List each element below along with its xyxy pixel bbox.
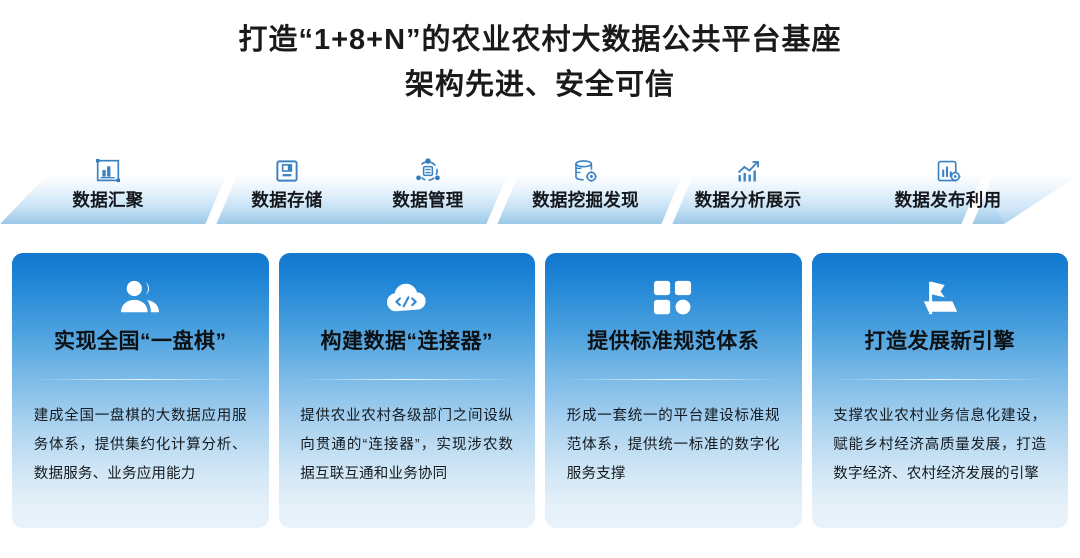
process-step-label: 数据发布利用	[895, 190, 1002, 224]
process-step-data-mining[interactable]: 数据挖掘发现	[498, 134, 673, 224]
network-node-circle-icon	[414, 154, 442, 188]
feature-card-standards-system[interactable]: 提供标准规范体系 形成一套统一的平台建设标准规范体系，提供统一标准的数字化服务支…	[545, 253, 802, 528]
bar-chart-frame-icon	[93, 154, 123, 188]
flag-icon	[919, 275, 961, 321]
feature-card-national-chessboard[interactable]: 实现全国“一盘棋” 建成全国一盘棋的大数据应用服务体系，提供集约化计算分析、数据…	[12, 253, 269, 528]
title-line-1: 打造“1+8+N”的农业农村大数据公共平台基座	[0, 18, 1080, 63]
process-step-data-storage[interactable]: 数据存储	[216, 134, 358, 224]
process-step-data-analysis[interactable]: 数据分析展示	[673, 134, 823, 224]
process-step-label: 数据汇聚	[72, 190, 143, 224]
feature-card-title: 实现全国“一盘棋”	[54, 325, 227, 355]
process-step-data-aggregation[interactable]: 数据汇聚	[0, 134, 216, 224]
feature-card-title: 打造发展新引擎	[865, 325, 1016, 355]
feature-card-description: 建成全国一盘棋的大数据应用服务体系，提供集约化计算分析、数据服务、业务应用能力	[34, 402, 247, 489]
process-step-label: 数据管理	[392, 190, 463, 224]
grid-blocks-icon	[652, 275, 694, 321]
slide-root: 打造“1+8+N”的农业农村大数据公共平台基座 架构先进、安全可信	[0, 0, 1080, 558]
feature-card-new-engine[interactable]: 打造发展新引擎 支撑农业农村业务信息化建设，赋能乡村经济高质量发展，打造数字经济…	[812, 253, 1069, 528]
feature-card-description: 支撑农业农村业务信息化建设，赋能乡村经济高质量发展，打造数字经济、农村经济发展的…	[833, 402, 1046, 489]
trend-bars-arrow-icon	[734, 154, 763, 188]
feature-card-title: 构建数据“连接器”	[321, 325, 494, 355]
feature-card-description: 形成一套统一的平台建设标准规范体系，提供统一标准的数字化服务支撑	[567, 402, 780, 489]
card-divider	[829, 379, 1050, 380]
page-title: 打造“1+8+N”的农业农村大数据公共平台基座 架构先进、安全可信	[0, 18, 1080, 108]
process-step-data-publishing[interactable]: 数据发布利用	[823, 134, 1073, 224]
feature-card-title: 提供标准规范体系	[587, 325, 759, 355]
card-divider	[563, 379, 784, 380]
floppy-disk-icon	[273, 154, 301, 188]
process-step-label: 数据存储	[251, 190, 322, 224]
report-gear-icon	[934, 154, 963, 188]
cloud-code-icon	[382, 275, 432, 321]
feature-card-data-connector[interactable]: 构建数据“连接器” 提供农业农村各级部门之间设纵向贯通的“连接器”，实现涉农数据…	[279, 253, 536, 528]
process-step-label: 数据挖掘发现	[532, 190, 639, 224]
database-gear-icon	[571, 154, 600, 188]
process-step-list: 数据汇聚 数据存储	[0, 134, 1080, 224]
process-step-label: 数据分析展示	[695, 190, 802, 224]
card-divider	[296, 379, 517, 380]
people-group-icon	[117, 275, 163, 321]
feature-card-list: 实现全国“一盘棋” 建成全国一盘棋的大数据应用服务体系，提供集约化计算分析、数据…	[12, 253, 1068, 528]
card-divider	[30, 379, 251, 380]
feature-card-description: 提供农业农村各级部门之间设纵向贯通的“连接器”，实现涉农数据互联互通和业务协同	[300, 402, 513, 489]
title-line-2: 架构先进、安全可信	[0, 63, 1080, 108]
process-step-data-management[interactable]: 数据管理	[358, 134, 498, 224]
